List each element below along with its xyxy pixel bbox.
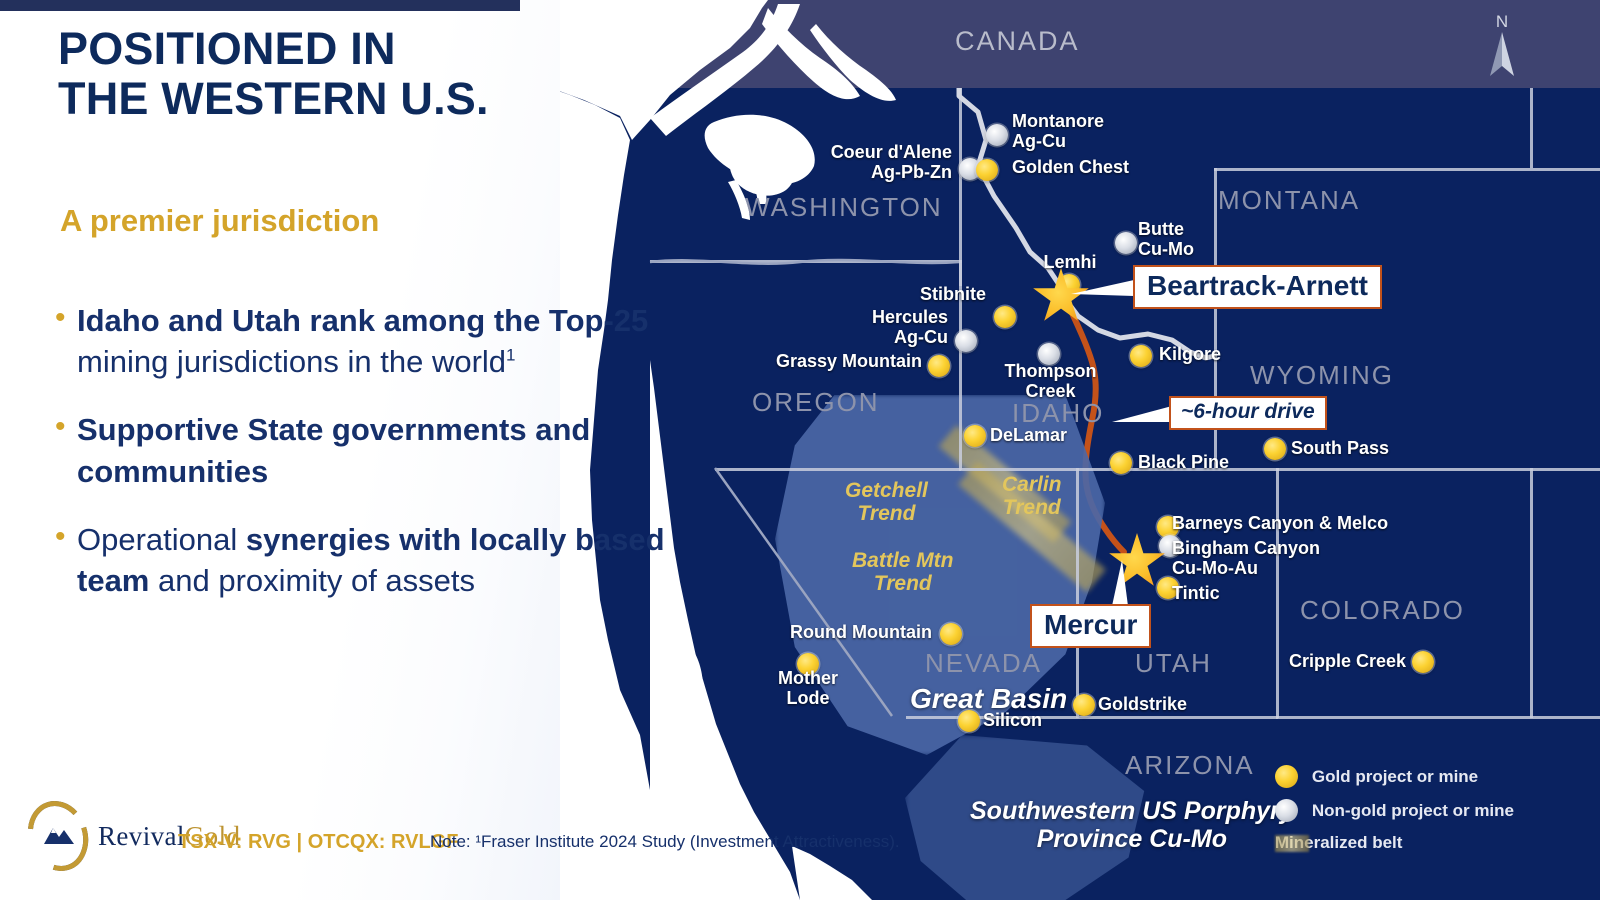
page-subtitle: A premier jurisdiction [60, 203, 379, 239]
trend-getchell-line2: Trend [857, 502, 915, 525]
state-label-arizona: ARIZONA [1125, 750, 1255, 781]
label-lemhi: Lemhi [1010, 252, 1130, 272]
label-thompson-creek: Thompson Creek [983, 361, 1118, 401]
beartrack-arnett-star[interactable] [1032, 268, 1090, 326]
trend-label-getchell: Getchell Trend [845, 480, 928, 525]
bullet-jurisdiction: Idaho and Utah rank among the Top-25 min… [52, 300, 692, 382]
point-goldstrike[interactable] [1073, 694, 1095, 716]
bullet-synergies: Operational synergies with locally based… [52, 519, 692, 601]
callout-six-hour-drive[interactable]: ~6-hour drive [1169, 396, 1327, 430]
label-butte-name: Butte [1138, 219, 1184, 239]
point-round-mountain[interactable] [940, 623, 962, 645]
label-montanore-metals: Ag-Cu [1012, 131, 1066, 151]
legend-gold-label: Gold project or mine [1312, 767, 1478, 787]
label-butte-metals: Cu-Mo [1138, 239, 1194, 259]
state-label-wyoming: WYOMING [1250, 360, 1394, 391]
label-goldstrike: Goldstrike [1098, 694, 1187, 714]
bullet-list: Idaho and Utah rank among the Top-25 min… [52, 300, 692, 628]
label-butte: Butte Cu-Mo [1138, 219, 1194, 259]
point-hercules[interactable] [955, 330, 977, 352]
state-label-nevada: NEVADA [925, 648, 1042, 679]
label-hercules-name: Hercules [872, 307, 948, 327]
label-silicon: Silicon [983, 710, 1042, 730]
label-hercules-metals: Ag-Cu [894, 327, 948, 347]
label-stibnite: Stibnite [840, 284, 986, 304]
point-montanore[interactable] [986, 124, 1008, 146]
legend-row-gold: Gold project or mine [1275, 765, 1514, 788]
label-round-mountain: Round Mountain [696, 622, 932, 642]
border-nv-ut [1076, 468, 1079, 718]
label-bingham-metals: Cu-Mo-Au [1172, 558, 1258, 578]
point-delamar[interactable] [964, 425, 986, 447]
bullet-jurisdiction-strong: Idaho and Utah rank among the Top-25 [77, 303, 648, 338]
label-coeur-dalene-name: Coeur d'Alene [831, 142, 952, 162]
porphyry-line2: Province Cu-Mo [1037, 825, 1227, 853]
label-thompson-line2: Creek [1025, 381, 1075, 401]
border-co-nm [1276, 716, 1600, 719]
content-panel: POSITIONED IN THE WESTERN U.S. A premier… [0, 0, 560, 900]
bullet-synergies-post: and proximity of assets [149, 563, 475, 598]
page-title-line1: POSITIONED IN [58, 23, 396, 74]
label-coeur-dalene: Coeur d'Alene Ag-Pb-Zn [700, 142, 952, 182]
bullet-jurisdiction-rest: mining jurisdictions in the world [77, 344, 506, 379]
map-legend: Gold project or mine Non-gold project or… [1275, 765, 1514, 864]
trend-label-carlin: Carlin Trend [1002, 474, 1062, 519]
label-black-pine: Black Pine [1138, 452, 1229, 472]
legend-row-nongold: Non-gold project or mine [1275, 799, 1514, 822]
point-stibnite[interactable] [994, 306, 1016, 328]
label-hercules: Hercules Ag-Cu [750, 307, 948, 347]
border-mt-wy [1214, 168, 1600, 171]
trend-getchell-line1: Getchell [845, 479, 928, 502]
trend-label-battle-mtn: Battle Mtn Trend [852, 550, 954, 595]
border-wa-or [650, 260, 962, 263]
revival-gold-mark-icon [22, 800, 94, 872]
state-label-montana: MONTANA [1218, 185, 1360, 216]
label-kilgore: Kilgore [1159, 344, 1221, 364]
page-title-line2: THE WESTERN U.S. [58, 73, 489, 124]
bullet-jurisdiction-footnote-marker: 1 [506, 346, 515, 365]
border-ut-co [1276, 468, 1279, 718]
stock-ticker: TSX-V: RVG | OTCQX: RVLGF [178, 831, 458, 854]
footnote: Note: ¹Fraser Institute 2024 Study (Inve… [430, 832, 900, 852]
border-wa-id [959, 88, 962, 286]
label-montanore: Montanore Ag-Cu [1012, 111, 1104, 151]
compass-rose: N [1482, 12, 1522, 74]
trend-carlin-line2: Trend [1003, 496, 1061, 519]
point-butte[interactable] [1115, 232, 1137, 254]
point-south-pass[interactable] [1264, 438, 1286, 460]
legend-gold-swatch-icon [1275, 765, 1298, 788]
point-grassy-mountain[interactable] [928, 355, 950, 377]
trend-carlin-line1: Carlin [1002, 473, 1062, 496]
point-golden-chest[interactable] [976, 159, 998, 181]
trend-battle-line2: Trend [874, 572, 932, 595]
label-mother-line2: Lode [787, 688, 830, 708]
legend-nongold-label: Non-gold project or mine [1312, 801, 1514, 821]
label-montanore-name: Montanore [1012, 111, 1104, 131]
state-label-washington: WASHINGTON [745, 192, 943, 223]
point-black-pine[interactable] [1110, 452, 1132, 474]
compass-needle-icon [1482, 30, 1522, 78]
label-delamar: DeLamar [990, 425, 1067, 445]
label-bingham-canyon: Bingham Canyon Cu-Mo-Au [1172, 538, 1320, 578]
state-label-oregon: OREGON [752, 387, 880, 418]
region-label-southwestern-porphyry: Southwestern US Porphyry Province Cu-Mo [970, 797, 1294, 853]
top-accent-bar [0, 0, 520, 11]
label-cripple-creek: Cripple Creek [1190, 651, 1406, 671]
label-thompson-line1: Thompson [1005, 361, 1097, 381]
legend-row-belt: Mineralized belt [1275, 833, 1514, 853]
border-mt-nd [1530, 88, 1533, 168]
point-silicon[interactable] [958, 710, 980, 732]
compass-north-label: N [1496, 12, 1508, 32]
label-mother-line1: Mother [778, 668, 838, 688]
callout-beartrack-arnett[interactable]: Beartrack-Arnett [1133, 265, 1382, 309]
point-kilgore[interactable] [1130, 345, 1152, 367]
legend-nongold-swatch-icon [1275, 799, 1298, 822]
label-grassy-mountain: Grassy Mountain [680, 351, 922, 371]
label-bingham-name: Bingham Canyon [1172, 538, 1320, 558]
label-mother-lode: Mother Lode [748, 668, 868, 708]
state-label-colorado: COLORADO [1300, 595, 1465, 626]
label-barneys-canyon-melco: Barneys Canyon & Melco [1172, 513, 1388, 533]
page-title: POSITIONED IN THE WESTERN U.S. [58, 24, 528, 125]
point-cripple-creek[interactable] [1412, 651, 1434, 673]
legend-belt-swatch-icon [1275, 835, 1309, 852]
label-south-pass: South Pass [1291, 438, 1389, 458]
trend-battle-line1: Battle Mtn [852, 549, 954, 572]
porphyry-line1: Southwestern US Porphyry [970, 797, 1294, 825]
label-golden-chest: Golden Chest [1012, 157, 1129, 177]
logo-word-revival: Revival [98, 821, 185, 851]
bullet-synergies-pre: Operational [77, 522, 246, 557]
label-tintic: Tintic [1172, 583, 1220, 603]
label-coeur-dalene-metals: Ag-Pb-Zn [871, 162, 952, 182]
border-wy-co [1276, 468, 1600, 471]
callout-mercur[interactable]: Mercur [1030, 604, 1151, 648]
bullet-government: Supportive State governments and communi… [52, 409, 692, 491]
slide-root: CANADA [0, 0, 1600, 900]
bullet-government-strong: Supportive State governments and communi… [77, 412, 590, 488]
border-co-east [1530, 468, 1533, 718]
country-label-canada: CANADA [955, 26, 1080, 57]
border-or-nv [715, 468, 961, 471]
